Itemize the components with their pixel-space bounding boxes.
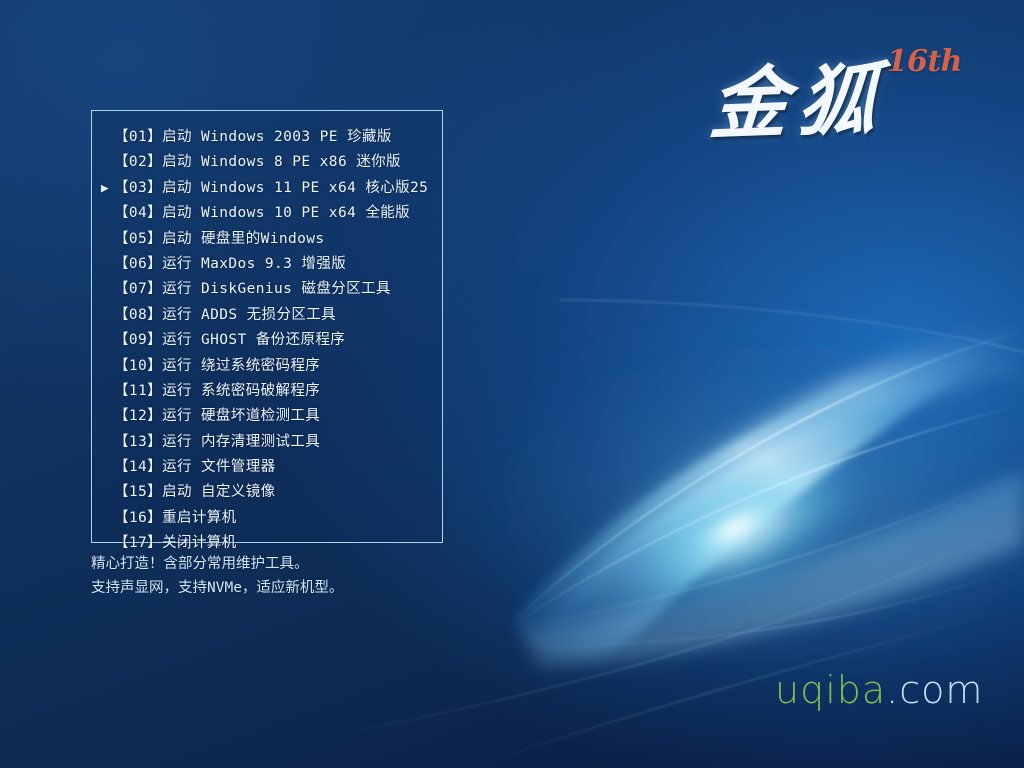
menu-item[interactable]: 【09】运行 GHOST 备份还原程序 [92, 328, 442, 353]
menu-item-index: 【01】 [114, 129, 162, 145]
aurora-petal-inner [540, 380, 950, 649]
menu-item[interactable]: ▶【03】启动 Windows 11 PE x64 核心版25 [92, 176, 442, 201]
menu-item-index: 【04】 [114, 205, 162, 221]
watermark-tld: .com [886, 668, 983, 712]
menu-item[interactable]: 【01】启动 Windows 2003 PE 珍藏版 [92, 125, 442, 150]
menu-item[interactable]: 【14】运行 文件管理器 [92, 455, 442, 480]
aurora-core-hot [657, 468, 812, 589]
site-watermark: uqiba.com [775, 668, 983, 712]
menu-item-label: 运行 GHOST 备份还原程序 [162, 332, 345, 348]
menu-item-index: 【05】 [114, 231, 162, 247]
aurora-ray-5 [560, 300, 1024, 352]
menu-item-label: 运行 DiskGenius 磁盘分区工具 [162, 281, 391, 297]
aurora-ray-4 [500, 566, 1024, 646]
menu-item-label: 关闭计算机 [162, 535, 237, 551]
menu-item-label: 运行 系统密码破解程序 [162, 383, 320, 399]
menu-item-label: 启动 硬盘里的Windows [162, 231, 324, 247]
menu-item[interactable]: 【16】重启计算机 [92, 506, 442, 531]
aurora-halo [450, 320, 1024, 690]
menu-item-label: 运行 内存清理测试工具 [162, 434, 320, 450]
footer-note: 精心打造！含部分常用维护工具。 支持声显网，支持NVMe，适应新机型。 [91, 552, 343, 600]
menu-item-label: 重启计算机 [162, 510, 237, 526]
menu-item[interactable]: 【15】启动 自定义镜像 [92, 480, 442, 505]
menu-item[interactable]: 【10】运行 绕过系统密码程序 [92, 354, 442, 379]
footer-line-1: 精心打造！含部分常用维护工具。 [91, 552, 343, 576]
menu-item[interactable]: 【05】启动 硬盘里的Windows [92, 227, 442, 252]
anniversary-badge: 16th [887, 44, 962, 79]
aurora-core-glow [576, 396, 908, 664]
menu-item[interactable]: 【06】运行 MaxDos 9.3 增强版 [92, 252, 442, 277]
menu-item-index: 【09】 [114, 332, 162, 348]
boot-menu-box: 【01】启动 Windows 2003 PE 珍藏版【02】启动 Windows… [91, 110, 443, 543]
menu-item-label: 启动 Windows 11 PE x64 核心版25 [162, 180, 428, 196]
menu-item-label: 运行 文件管理器 [162, 459, 275, 475]
menu-item-index: 【07】 [114, 281, 162, 297]
aurora-petal-upper [515, 318, 1024, 628]
menu-item[interactable]: 【04】启动 Windows 10 PE x64 全能版 [92, 201, 442, 226]
menu-item[interactable]: 【08】运行 ADDS 无损分区工具 [92, 303, 442, 328]
aurora-ray-3 [512, 470, 1024, 630]
menu-item-index: 【14】 [114, 459, 162, 475]
menu-item[interactable]: 【13】运行 内存清理测试工具 [92, 430, 442, 455]
menu-item-index: 【03】 [114, 180, 162, 196]
menu-item-index: 【06】 [114, 256, 162, 272]
menu-item-index: 【02】 [114, 154, 162, 170]
menu-item-index: 【15】 [114, 484, 162, 500]
menu-item-label: 运行 绕过系统密码程序 [162, 358, 320, 374]
menu-item-index: 【12】 [114, 408, 162, 424]
brand-logo: 16th 金狐 [700, 36, 1000, 166]
menu-item-index: 【16】 [114, 510, 162, 526]
menu-item-label: 运行 MaxDos 9.3 增强版 [162, 256, 346, 272]
menu-item-index: 【11】 [114, 383, 162, 399]
brand-name: 金狐 [707, 61, 889, 145]
selection-arrow-icon: ▶ [99, 176, 111, 201]
watermark-name: uqiba [775, 668, 886, 712]
menu-item[interactable]: 【11】运行 系统密码破解程序 [92, 379, 442, 404]
menu-item[interactable]: 【02】启动 Windows 8 PE x86 迷你版 [92, 150, 442, 175]
menu-item-index: 【10】 [114, 358, 162, 374]
boot-menu-screen: 16th 金狐 【01】启动 Windows 2003 PE 珍藏版【02】启动… [0, 0, 1024, 768]
menu-item-label: 运行 硬盘坏道检测工具 [162, 408, 320, 424]
aurora-petal-lower [520, 470, 1024, 666]
menu-item-label: 启动 Windows 2003 PE 珍藏版 [162, 129, 392, 145]
menu-item-index: 【08】 [114, 307, 162, 323]
menu-item-label: 启动 自定义镜像 [162, 484, 275, 500]
footer-line-2: 支持声显网，支持NVMe，适应新机型。 [91, 576, 343, 600]
menu-item[interactable]: 【07】运行 DiskGenius 磁盘分区工具 [92, 277, 442, 302]
boot-menu-list[interactable]: 【01】启动 Windows 2003 PE 珍藏版【02】启动 Windows… [92, 125, 442, 557]
menu-item-index: 【13】 [114, 434, 162, 450]
menu-item[interactable]: 【12】运行 硬盘坏道检测工具 [92, 404, 442, 429]
aurora-petal-large [512, 330, 1024, 657]
aurora-ray-2 [512, 404, 1024, 626]
menu-item-label: 启动 Windows 10 PE x64 全能版 [162, 205, 410, 221]
menu-item-index: 【17】 [114, 535, 162, 551]
aurora-ray-1 [512, 330, 1024, 622]
menu-item-label: 启动 Windows 8 PE x86 迷你版 [162, 154, 401, 170]
menu-item-label: 运行 ADDS 无损分区工具 [162, 307, 336, 323]
